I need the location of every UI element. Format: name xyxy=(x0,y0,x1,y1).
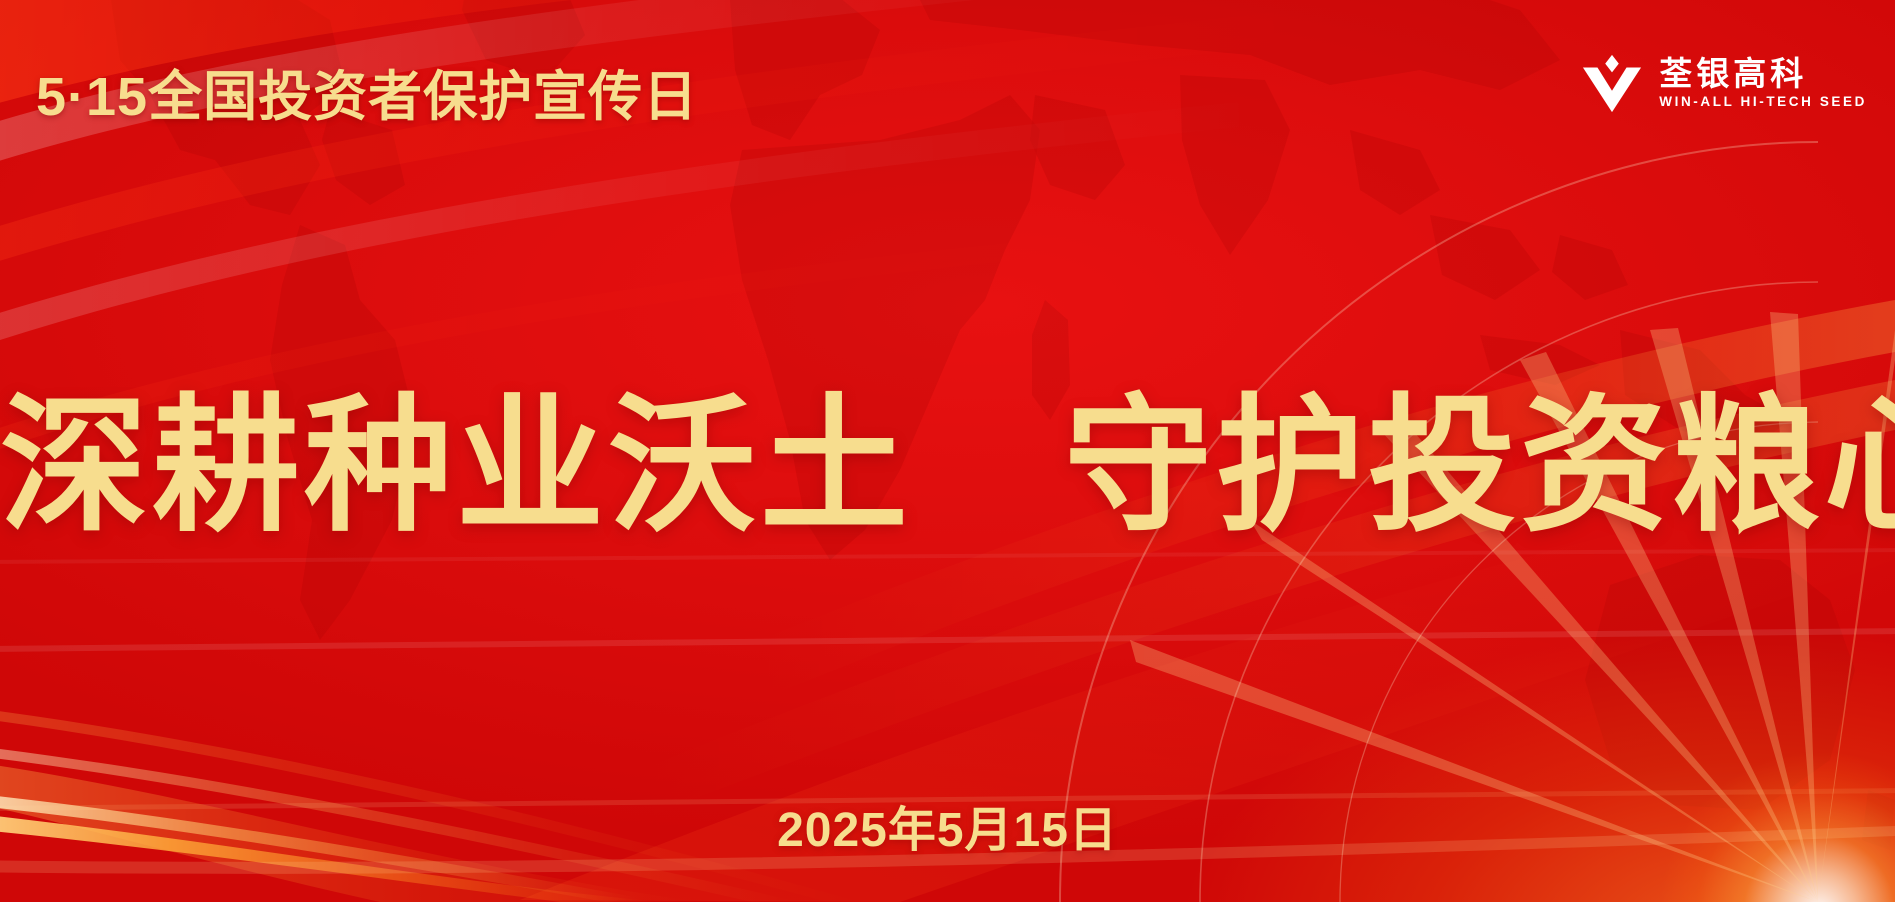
main-slogan: 深耕种业沃土 守护投资粮心 xyxy=(0,384,1895,550)
banner-content: 5·15全国投资者保护宣传日 荃银高科 WIN-ALL HI-TECH SEED… xyxy=(0,0,1895,902)
logo-wordmark: 荃银高科 WIN-ALL HI-TECH SEED xyxy=(1659,57,1867,108)
logo-name-cn: 荃银高科 xyxy=(1659,57,1867,92)
company-logo: 荃银高科 WIN-ALL HI-TECH SEED xyxy=(1581,52,1867,114)
chevron-diamond-mark-icon xyxy=(1581,52,1643,114)
campaign-kicker: 5·15全国投资者保护宣传日 xyxy=(36,52,698,131)
event-date: 2025年5月15日 xyxy=(0,790,1895,860)
logo-name-en: WIN-ALL HI-TECH SEED xyxy=(1659,95,1867,109)
investor-protection-banner: 5·15全国投资者保护宣传日 荃银高科 WIN-ALL HI-TECH SEED… xyxy=(0,0,1895,902)
